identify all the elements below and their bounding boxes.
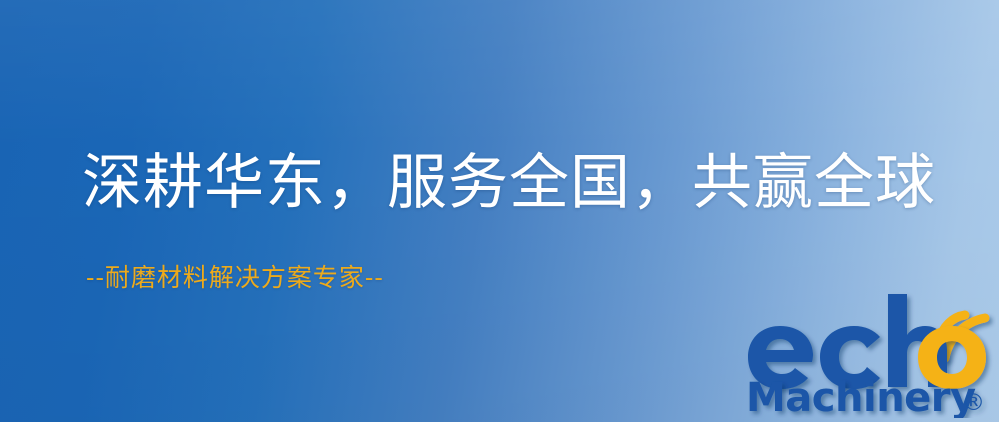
registered-trademark-icon: ® (962, 390, 985, 416)
hero-banner: 深耕华东，服务全国，共赢全球 --耐磨材料解决方案专家-- (0, 0, 999, 422)
page-title: 深耕华东，服务全国，共赢全球 (82, 153, 936, 213)
page-subtitle: --耐磨材料解决方案专家-- (86, 265, 384, 290)
logo-tagline-machinery: Machinery ® (746, 375, 985, 418)
svg-text:Machinery: Machinery (746, 375, 976, 418)
echo-machinery-logo[interactable]: Machinery ® (744, 292, 996, 418)
